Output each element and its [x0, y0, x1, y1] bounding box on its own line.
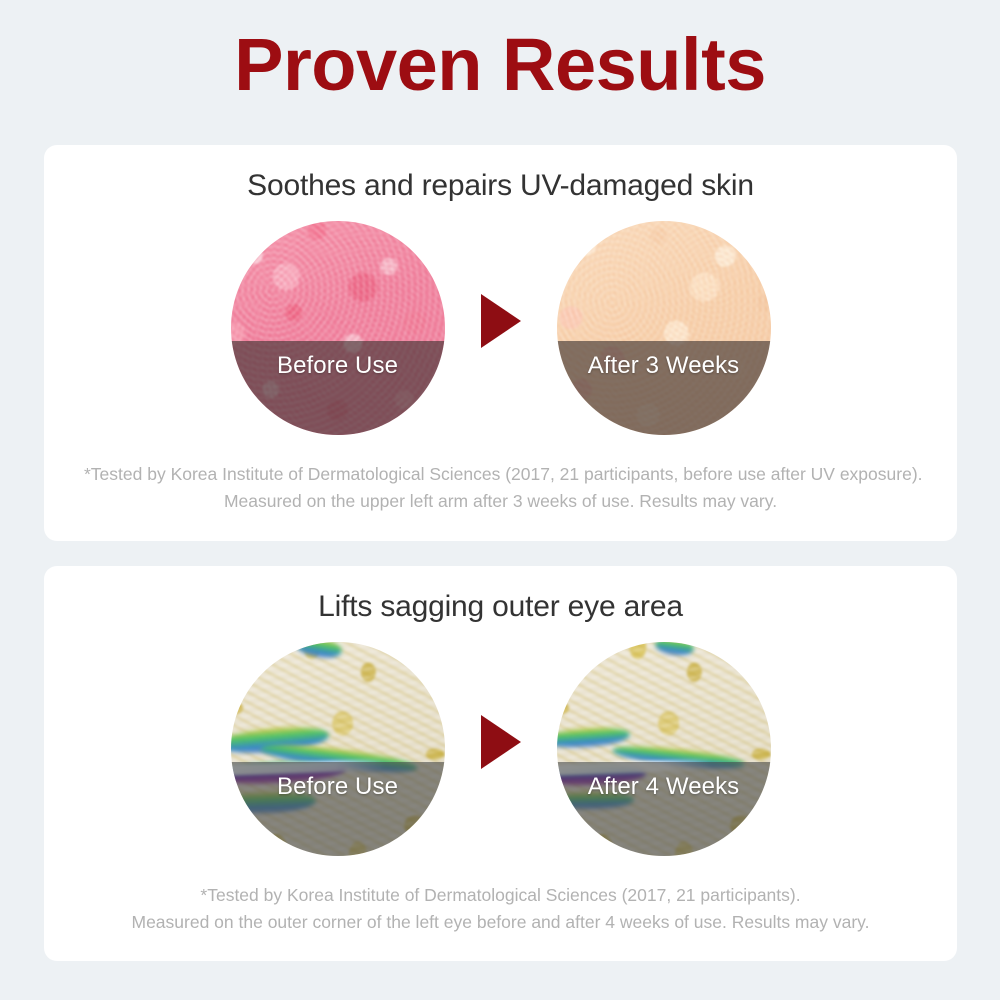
- footnote-line-2: Measured on the outer corner of the left…: [84, 909, 917, 936]
- before-after-comparison-uv: Before Use After 3 Weeks: [44, 221, 957, 435]
- arrow-container-uv: [445, 308, 557, 348]
- arrow-container-eye: [445, 729, 557, 769]
- after-image-eye: After 4 Weeks: [557, 642, 771, 856]
- arrow-right-icon: [481, 294, 521, 348]
- after-image-circle-uv: After 3 Weeks: [557, 221, 771, 435]
- card-title-uv-damage: Soothes and repairs UV-damaged skin: [44, 169, 957, 203]
- after-label-band-eye: After 4 Weeks: [557, 762, 771, 856]
- footnote-uv-damage: *Tested by Korea Institute of Dermatolog…: [44, 461, 957, 515]
- after-label-band-uv: After 3 Weeks: [557, 341, 771, 435]
- after-image-circle-eye: After 4 Weeks: [557, 642, 771, 856]
- page-title: Proven Results: [0, 26, 1000, 104]
- card-title-eye-lift: Lifts sagging outer eye area: [44, 590, 957, 624]
- before-label-band-eye: Before Use: [231, 762, 445, 856]
- result-card-uv-damage: Soothes and repairs UV-damaged skin Befo…: [44, 145, 957, 541]
- after-image-uv: After 3 Weeks: [557, 221, 771, 435]
- before-image-eye: Before Use: [231, 642, 445, 856]
- before-after-comparison-eye: Before Use After 4 Weeks: [44, 642, 957, 856]
- arrow-right-icon: [481, 715, 521, 769]
- after-label-eye: After 4 Weeks: [588, 773, 740, 801]
- after-label-uv: After 3 Weeks: [588, 352, 740, 380]
- before-image-circle-eye: Before Use: [231, 642, 445, 856]
- result-card-eye-lift: Lifts sagging outer eye area Before Use: [44, 566, 957, 961]
- footnote-eye-lift: *Tested by Korea Institute of Dermatolog…: [44, 882, 957, 936]
- before-image-uv: Before Use: [231, 221, 445, 435]
- before-label-uv: Before Use: [277, 352, 398, 380]
- proven-results-page: Proven Results Soothes and repairs UV-da…: [0, 0, 1000, 1000]
- before-label-eye: Before Use: [277, 773, 398, 801]
- before-image-circle-uv: Before Use: [231, 221, 445, 435]
- footnote-line-1: *Tested by Korea Institute of Dermatolog…: [84, 461, 917, 488]
- before-label-band-uv: Before Use: [231, 341, 445, 435]
- footnote-line-2: Measured on the upper left arm after 3 w…: [84, 488, 917, 515]
- footnote-line-1: *Tested by Korea Institute of Dermatolog…: [84, 882, 917, 909]
